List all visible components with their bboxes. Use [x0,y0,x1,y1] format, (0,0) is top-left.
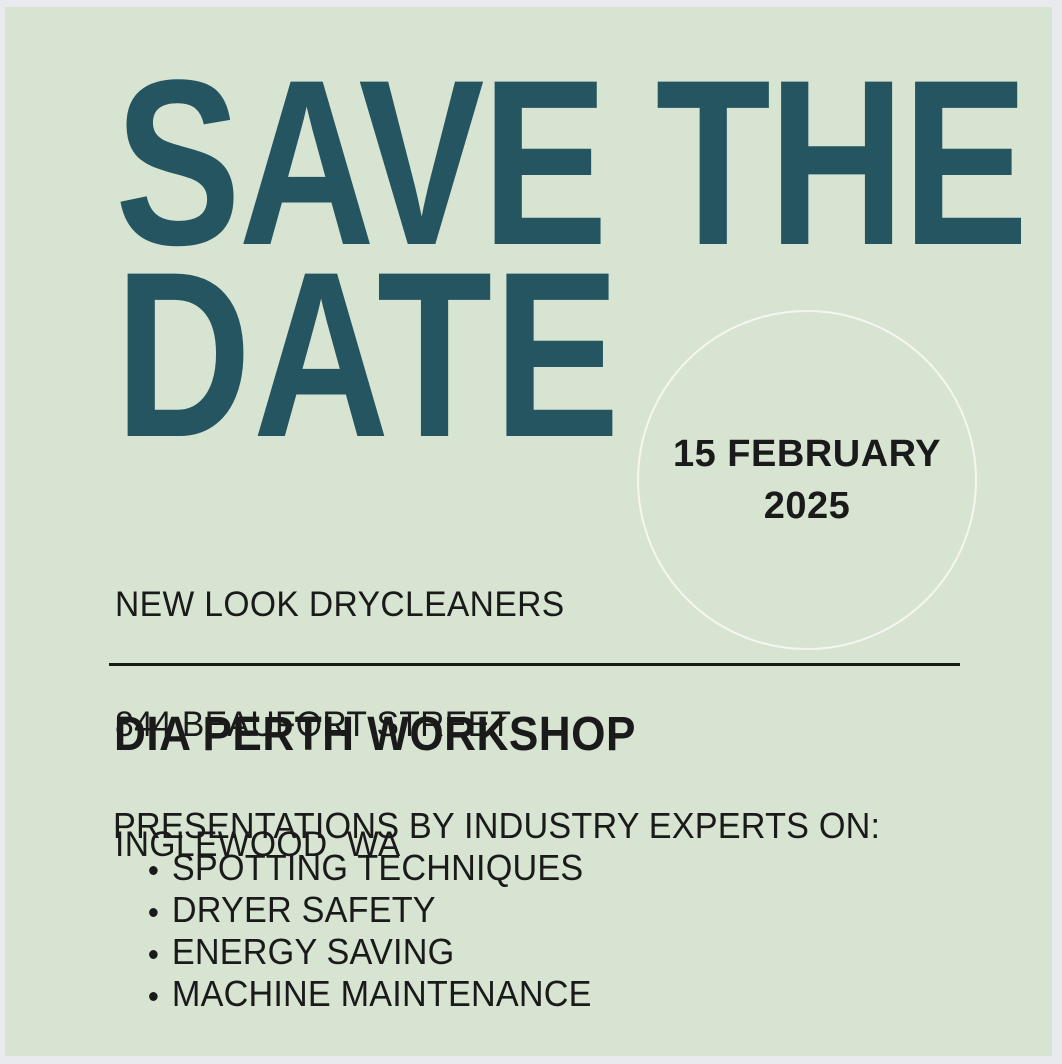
list-item: SPOTTING TECHNIQUES [113,847,880,889]
bullet-dot-icon [149,950,158,959]
topic-label: ENERGY SAVING [172,931,454,972]
bullet-dot-icon [149,866,158,875]
list-item: DRYER SAFETY [113,889,880,931]
list-item: ENERGY SAVING [113,931,880,973]
venue-name: NEW LOOK DRYCLEANERS [115,585,565,625]
topic-list: SPOTTING TECHNIQUES DRYER SAFETY ENERGY … [113,847,921,1015]
event-intro-text: PRESENTATIONS BY INDUSTRY EXPERTS ON: [113,805,880,847]
date-badge-circle: 15 FEBRUARY 2025 [637,310,977,650]
topic-label: MACHINE MAINTENANCE [172,973,592,1014]
screenshot-canvas: SAVE THE DATE NEW LOOK DRYCLEANERS 844 B… [0,0,1062,1064]
horizontal-divider [109,663,960,666]
date-badge-line-1: 15 FEBRUARY [673,428,941,480]
event-details: PRESENTATIONS BY INDUSTRY EXPERTS ON: SP… [113,805,921,1015]
headline-line-2: DATE [115,259,699,451]
save-the-date-poster: SAVE THE DATE NEW LOOK DRYCLEANERS 844 B… [5,7,1052,1056]
topic-label: DRYER SAFETY [172,889,436,930]
topic-label: SPOTTING TECHNIQUES [172,847,584,888]
bullet-dot-icon [149,908,158,917]
event-title: DIA PERTH WORKSHOP [114,709,636,761]
bullet-dot-icon [149,992,158,1001]
list-item: MACHINE MAINTENANCE [113,973,880,1015]
date-badge-line-2: 2025 [764,480,851,532]
